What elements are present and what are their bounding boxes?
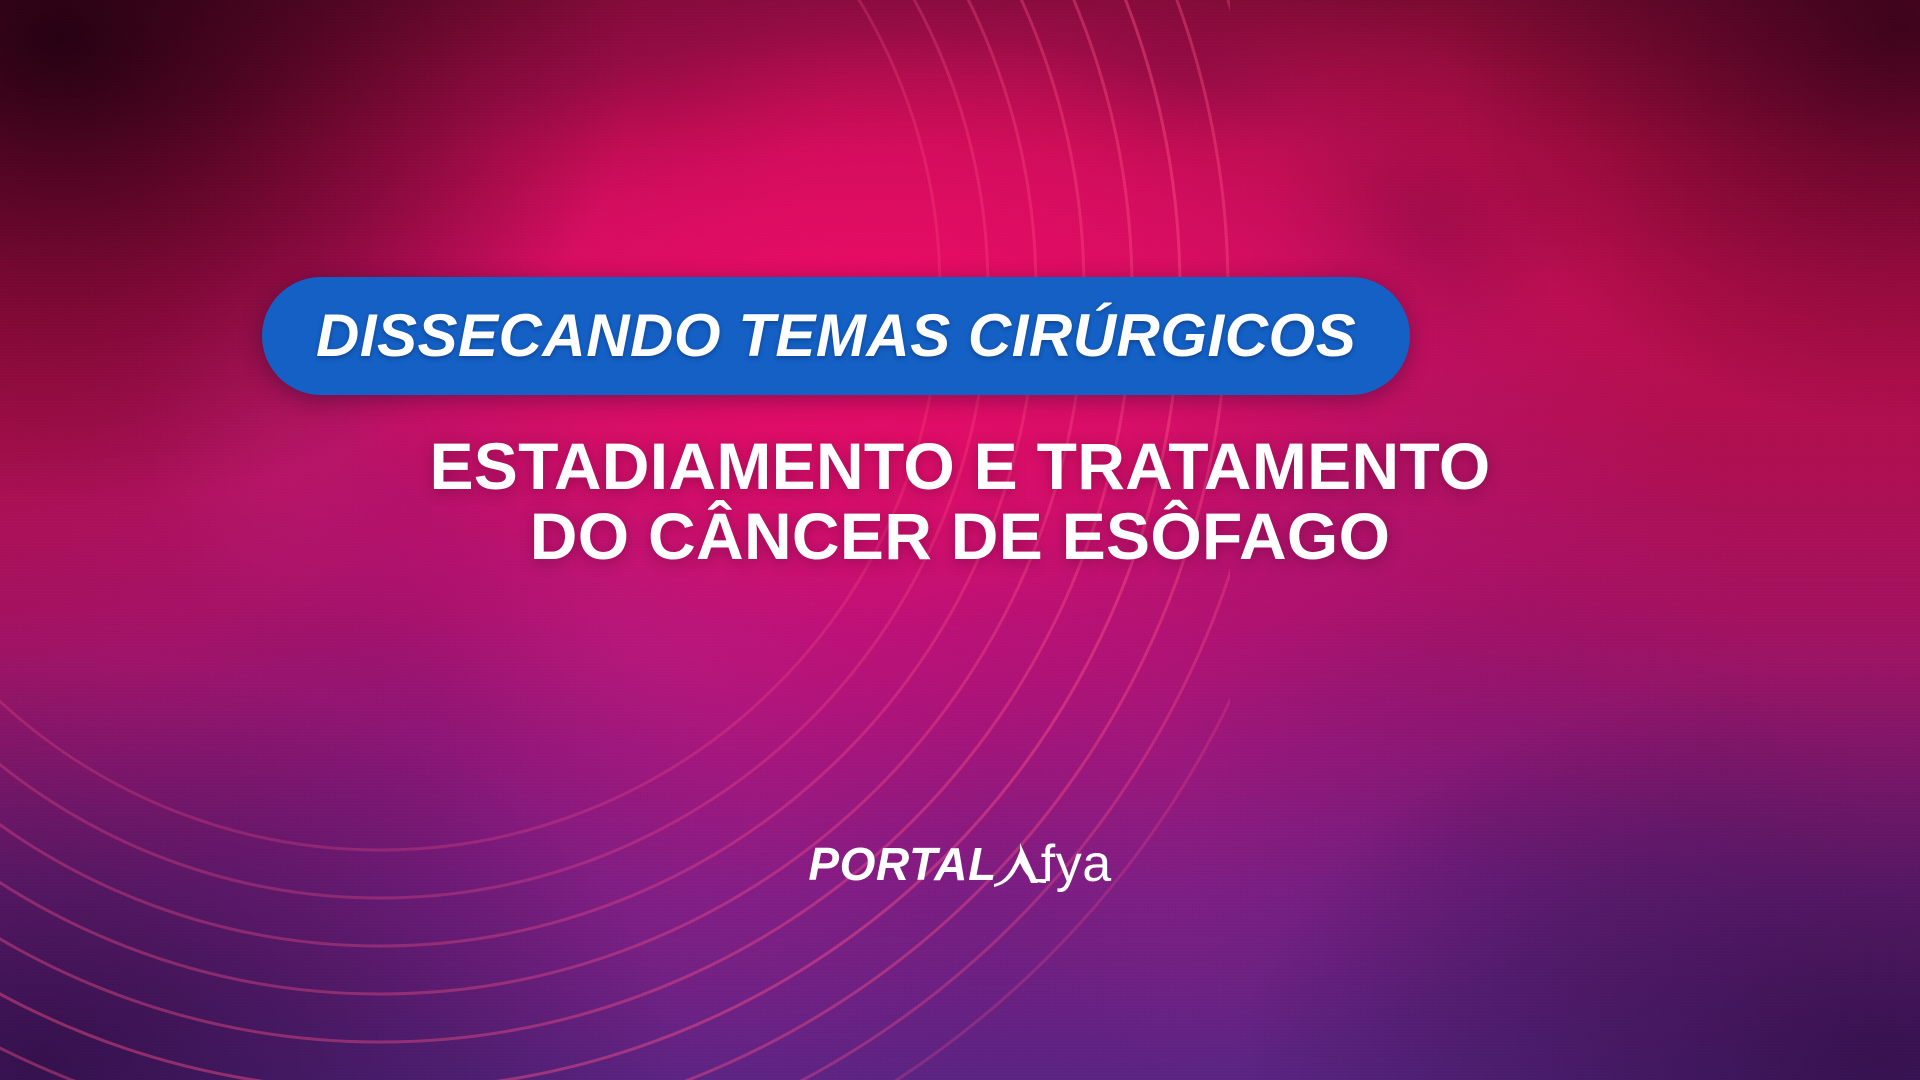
- banner-headline: ESTADIAMENTO E TRATAMENTO DO CÂNCER DE E…: [0, 432, 1920, 572]
- promo-banner: DISSECANDO TEMAS CIRÚRGICOS ESTADIAMENTO…: [0, 0, 1920, 1080]
- series-badge: DISSECANDO TEMAS CIRÚRGICOS: [262, 277, 1410, 395]
- logo-word-portal: PORTAL: [808, 841, 996, 887]
- headline-line-1: ESTADIAMENTO E TRATAMENTO: [0, 432, 1920, 502]
- logo-word-afya: fya: [1041, 838, 1112, 890]
- afya-chevron-a-mark: [993, 839, 1047, 889]
- banner-content: DISSECANDO TEMAS CIRÚRGICOS ESTADIAMENTO…: [0, 0, 1920, 1080]
- headline-line-2: DO CÂNCER DE ESÔFAGO: [0, 502, 1920, 572]
- series-badge-label: DISSECANDO TEMAS CIRÚRGICOS: [316, 306, 1356, 366]
- portal-afya-logo: PORTAL fya: [0, 838, 1920, 890]
